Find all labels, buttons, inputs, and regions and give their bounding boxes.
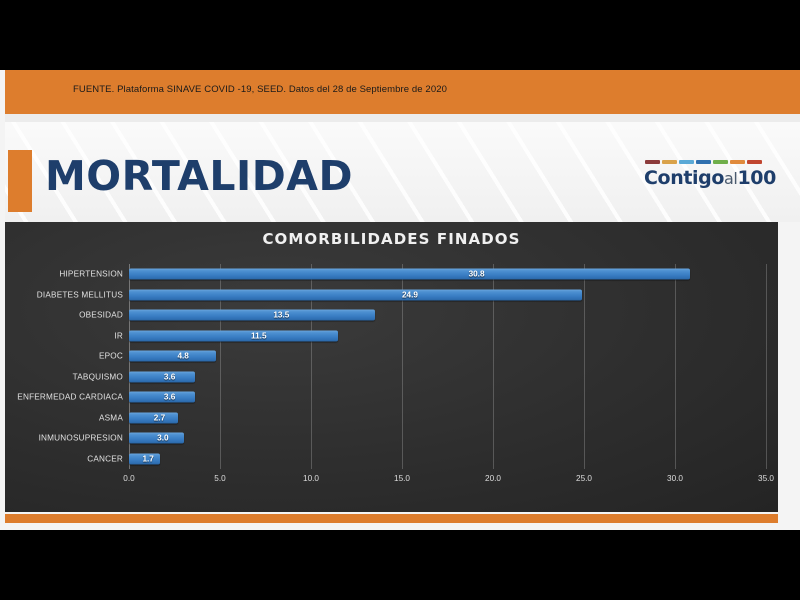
bar [129,330,338,341]
logo-color-bar-2 [679,160,694,164]
bar-row: DIABETES MELLITUS24.9 [129,285,766,306]
bar-value-label: 3.6 [164,372,175,381]
bar-row: HIPERTENSION30.8 [129,264,766,285]
bar [129,269,690,280]
logo-color-bar-6 [747,160,762,164]
slide: FUENTE. Plataforma SINAVE COVID -19, SEE… [0,70,800,530]
bar-value-label: 4.8 [177,352,188,361]
category-label: ENFERMEDAD CARDIACA [17,393,123,402]
category-label: TABQUISMO [73,372,123,381]
bar [129,351,216,362]
logo-main: Contigo [644,167,724,189]
logo-number: 100 [737,167,775,189]
bar [129,310,375,321]
category-label: ASMA [99,413,123,422]
page-title: MORTALIDAD [45,152,353,200]
x-tick-label: 5.0 [214,474,225,483]
bar-row: ASMA2.7 [129,408,766,429]
source-text: FUENTE. Plataforma SINAVE COVID -19, SEE… [73,84,447,95]
logo-color-bar-1 [662,160,677,164]
plot-area: HIPERTENSION30.8DIABETES MELLITUS24.9OBE… [129,264,766,469]
logo-color-bar-5 [730,160,745,164]
bar-value-label: 24.9 [402,290,418,299]
category-label: EPOC [99,352,123,361]
bar [129,392,195,403]
x-tick-label: 10.0 [303,474,319,483]
category-label: CANCER [87,454,123,463]
logo-wordmark: Contigoal100 [644,167,762,189]
x-tick-label: 15.0 [394,474,410,483]
logo-color-bar-0 [645,160,660,164]
x-tick-label: 25.0 [576,474,592,483]
bar-value-label: 13.5 [273,311,289,320]
chart-title: COMORBILIDADES FINADOS [5,230,778,248]
source-band: FUENTE. Plataforma SINAVE COVID -19, SEE… [5,70,800,114]
bar-value-label: 2.7 [154,413,165,422]
bar-value-label: 1.7 [142,454,153,463]
gridline-35.0 [766,264,767,469]
bar-row: ENFERMEDAD CARDIACA3.6 [129,387,766,408]
bar-row: CANCER1.7 [129,449,766,470]
bar-row: INMUNOSUPRESION3.0 [129,428,766,449]
brand-logo: Contigoal100 [644,160,762,189]
bar-value-label: 3.0 [157,434,168,443]
bar-value-label: 3.6 [164,393,175,402]
x-axis: 0.05.010.015.020.025.030.035.0 [129,474,766,492]
bar-row: IR11.5 [129,326,766,347]
bar [129,289,582,300]
bar-value-label: 30.8 [469,270,485,279]
bar-row: EPOC4.8 [129,346,766,367]
category-label: HIPERTENSION [59,270,123,279]
screen-letterbox: FUENTE. Plataforma SINAVE COVID -19, SEE… [0,0,800,600]
chart-panel: COMORBILIDADES FINADOS HIPERTENSION30.8D… [5,222,778,512]
category-label: DIABETES MELLITUS [37,290,123,299]
x-tick-label: 30.0 [667,474,683,483]
bar-row: OBESIDAD13.5 [129,305,766,326]
bottom-accent-band [5,514,778,523]
category-label: OBESIDAD [79,311,123,320]
x-tick-label: 20.0 [485,474,501,483]
x-tick-label: 0.0 [123,474,134,483]
logo-color-bar-4 [713,160,728,164]
logo-color-bar-3 [696,160,711,164]
title-accent-bar [8,150,32,212]
bar [129,371,195,382]
logo-color-bars [644,160,762,164]
bar-row: TABQUISMO3.6 [129,367,766,388]
bar-value-label: 11.5 [251,331,266,340]
category-label: INMUNOSUPRESION [39,434,123,443]
x-tick-label: 35.0 [758,474,774,483]
category-label: IR [114,331,123,340]
logo-light: al [724,169,737,188]
